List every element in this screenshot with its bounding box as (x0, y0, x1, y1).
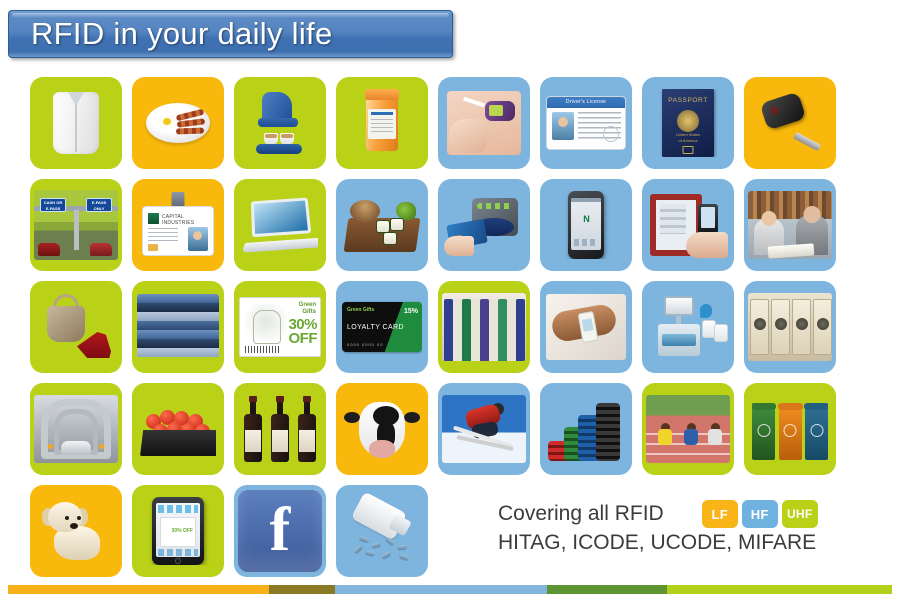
car-key-fob-image (752, 89, 828, 157)
lab-dispenser-image (646, 286, 730, 368)
grid-row-3: GreenGifts30%OFF Green GiftsLOYALTY CARD… (30, 281, 875, 373)
food-tray-image (340, 184, 424, 266)
tile-breakfast-plate[interactable] (132, 77, 224, 169)
footer-line-covering: Covering all RFID LF HF UHF (498, 500, 890, 528)
tile-passport[interactable]: PASSPORTUnited Statesof America (642, 77, 734, 169)
pharma-pills-image (340, 490, 424, 572)
tile-glucose-meter[interactable] (438, 77, 530, 169)
badge-hf: HF (742, 500, 778, 528)
tile-file-archive[interactable] (438, 281, 530, 373)
loyalty-card-image: Green GiftsLOYALTY CARD15%0000 0000 00 (342, 300, 422, 354)
tile-payment-terminal[interactable] (438, 179, 530, 271)
coffee-machine-image (242, 89, 318, 157)
accent-blue-segment (335, 585, 547, 594)
tile-food-tray[interactable] (336, 179, 428, 271)
car-wash-image (34, 388, 118, 470)
wine-bottles-image (242, 395, 318, 463)
tile-pet-puppy[interactable] (30, 485, 122, 577)
breakfast-image (140, 89, 216, 157)
recycling-bins-image (752, 395, 828, 463)
mobile-ticketing-image (646, 184, 730, 266)
pill-bottle-image (344, 89, 420, 157)
tile-skier[interactable] (438, 383, 530, 475)
accent-olive-segment (269, 585, 335, 594)
tile-tomato-crate[interactable] (132, 383, 224, 475)
title-banner: RFID in your daily life (8, 10, 453, 58)
tile-casino-chips[interactable] (540, 383, 632, 475)
marathon-runners-image (646, 388, 730, 470)
tile-handbag-shoe[interactable] (30, 281, 122, 373)
glucose-meter-image (442, 82, 526, 164)
tile-patient-wristband[interactable] (540, 281, 632, 373)
accent-light-green-segment (667, 585, 892, 594)
drivers-license-image: Driver's License (546, 96, 626, 150)
skier-image (442, 388, 526, 470)
tile-recycling-bins[interactable] (744, 383, 836, 475)
patient-wristband-image (544, 286, 628, 368)
dairy-cow-image (340, 388, 424, 470)
employee-badge-image: CAPITAL INDUSTRIES (136, 184, 220, 266)
passport-image: PASSPORTUnited Statesof America (650, 89, 726, 157)
tile-pharma-pills[interactable] (336, 485, 428, 577)
tile-pill-bottle[interactable] (336, 77, 428, 169)
frequency-badge-group: LF HF UHF (702, 500, 818, 528)
library-reading-image (748, 184, 832, 266)
accent-bar (8, 585, 892, 594)
tile-toll-booth[interactable]: CASH ORE-PASSE-PASSONLY (30, 179, 122, 271)
nfc-phone-image: N (548, 191, 624, 259)
tile-laundry-machines[interactable] (744, 281, 836, 373)
supported-technologies-label: HITAG, ICODE, UCODE, MIFARE (498, 531, 890, 555)
jeans-stack-image (136, 286, 220, 368)
page-title: RFID in your daily life (31, 16, 333, 52)
accent-orange-segment (8, 585, 269, 594)
grid-row-1: Driver's License PASSPORTUnited Statesof… (30, 77, 875, 169)
discount-coupon-image: GreenGifts30%OFF (238, 286, 322, 368)
accent-dark-green-segment (547, 585, 666, 594)
facebook-icon: f (238, 490, 322, 572)
file-archive-image (442, 286, 526, 368)
grid-row-2: CASH ORE-PASSE-PASSONLY CAPITAL INDUSTRI… (30, 179, 875, 271)
tile-dairy-cow[interactable] (336, 383, 428, 475)
badge-lf: LF (702, 500, 738, 528)
payment-terminal-image (442, 184, 526, 266)
tomato-crate-image (140, 395, 216, 463)
tile-mobile-ticketing[interactable] (642, 179, 734, 271)
tile-facebook-logo[interactable]: f (234, 485, 326, 577)
tile-apparel-shirt[interactable] (30, 77, 122, 169)
tile-loyalty-card[interactable]: Green GiftsLOYALTY CARD15%0000 0000 00 (336, 281, 428, 373)
tile-lab-dispenser[interactable] (642, 281, 734, 373)
grid-row-4 (30, 383, 875, 475)
tile-car-wash[interactable] (30, 383, 122, 475)
shirt-image (38, 89, 114, 157)
tablet-image (140, 497, 216, 565)
tile-jeans-stack[interactable] (132, 281, 224, 373)
slide-canvas: RFID in your daily life (0, 0, 900, 600)
footer-block: Covering all RFID LF HF UHF HITAG, ICODE… (498, 500, 890, 555)
tile-car-key-fob[interactable] (744, 77, 836, 169)
tile-library-reading[interactable] (744, 179, 836, 271)
tile-laptop[interactable] (234, 179, 326, 271)
covering-all-rfid-label: Covering all RFID (498, 502, 664, 526)
tile-wine-bottles[interactable] (234, 383, 326, 475)
toll-booth-image: CASH ORE-PASSE-PASSONLY (34, 184, 118, 266)
tile-drivers-license[interactable]: Driver's License (540, 77, 632, 169)
laundry-machines-image (748, 286, 832, 368)
casino-chips-image (544, 388, 628, 470)
tile-employee-badge[interactable]: CAPITAL INDUSTRIES (132, 179, 224, 271)
tile-discount-coupon[interactable]: GreenGifts30%OFF (234, 281, 326, 373)
puppy-image (38, 497, 114, 565)
tile-tablet-coupon[interactable] (132, 485, 224, 577)
badge-uhf: UHF (782, 500, 818, 528)
tile-coffee-machine[interactable] (234, 77, 326, 169)
laptop-image (242, 191, 318, 259)
tile-marathon-runners[interactable] (642, 383, 734, 475)
handbag-shoe-image (38, 293, 114, 361)
tile-nfc-phone[interactable]: N (540, 179, 632, 271)
